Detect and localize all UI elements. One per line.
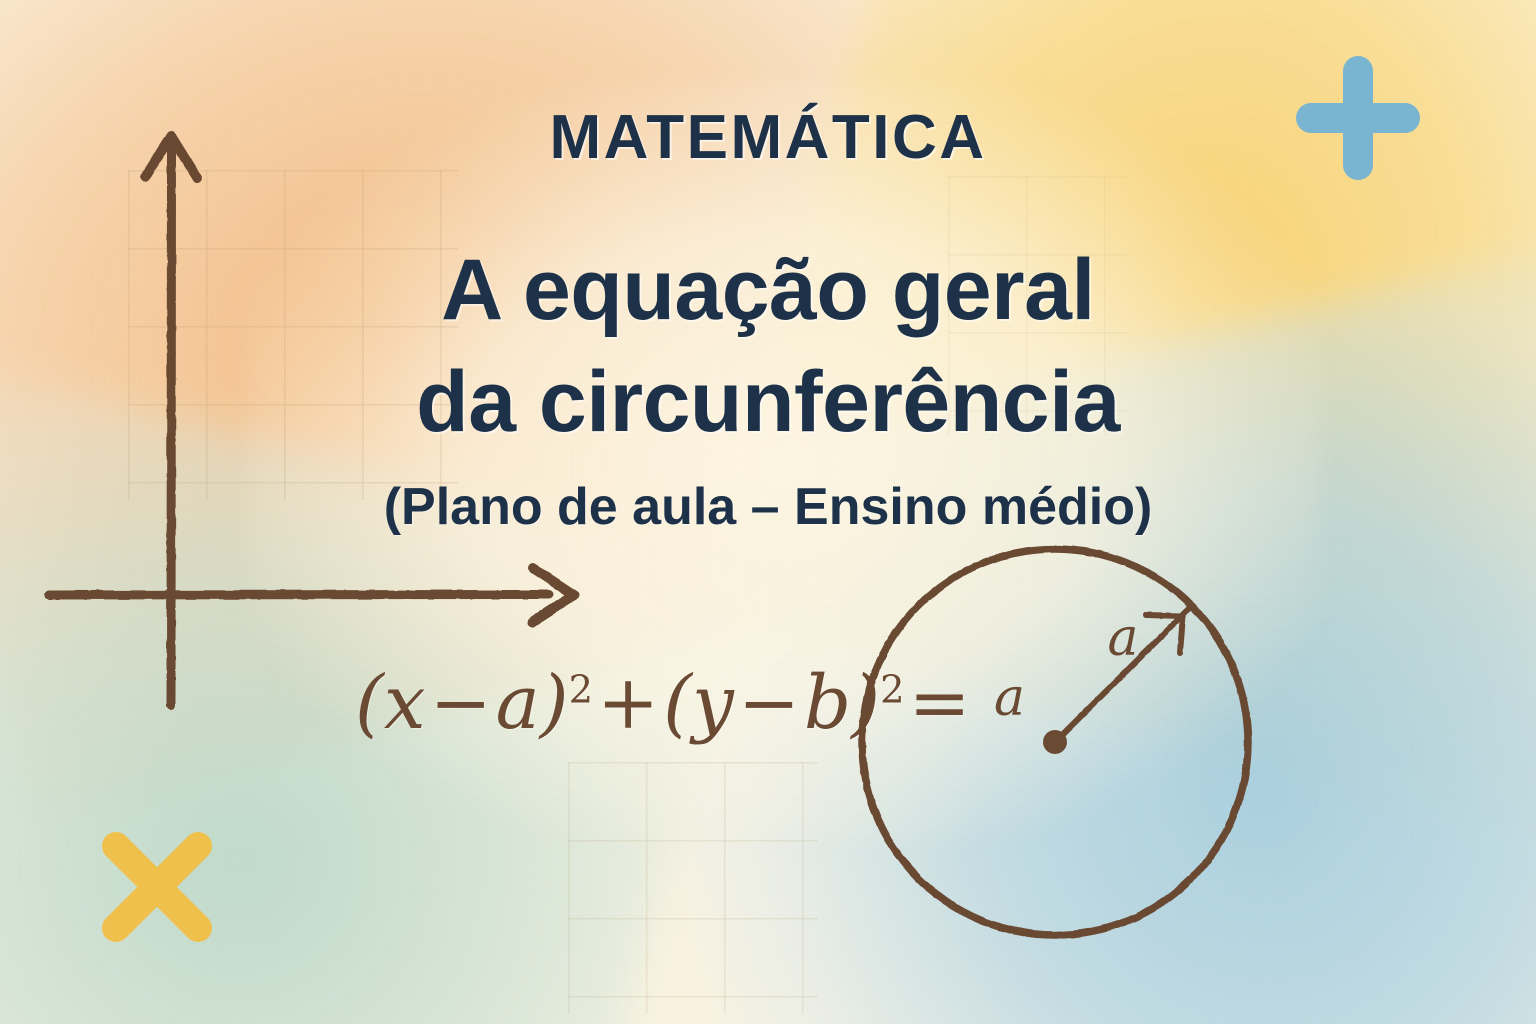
center-label: a [994,668,1025,728]
equation-param-a: a [496,660,540,746]
equation-minus-2: − [734,660,804,746]
equation-variable-x: x [384,660,426,746]
page-title: A equação geral da circunferência [0,235,1536,459]
equation-minus-1: − [426,660,496,746]
circle-center-dot [1043,730,1067,754]
plus-icon [1292,52,1424,184]
radius-label: a [1107,608,1138,668]
equation-plus: + [593,660,663,746]
circumference-diagram: a a [840,520,1280,960]
equation-open-paren-1: ( [355,660,384,746]
equation-open-paren-2: ( [663,660,692,746]
equation-variable-y: y [692,660,734,746]
x-icon [96,826,218,948]
page-title-line-1: A equação geral [0,235,1536,347]
equation-exponent-1: 2 [569,667,593,712]
page-title-line-2: da circunferência [0,347,1536,459]
equation-close-paren-1: ) [540,660,569,746]
page-subtitle: (Plano de aula – Ensino médio) [0,479,1536,536]
poster-canvas: MATEMÁTICA A equação geral da circunferê… [0,0,1536,1024]
